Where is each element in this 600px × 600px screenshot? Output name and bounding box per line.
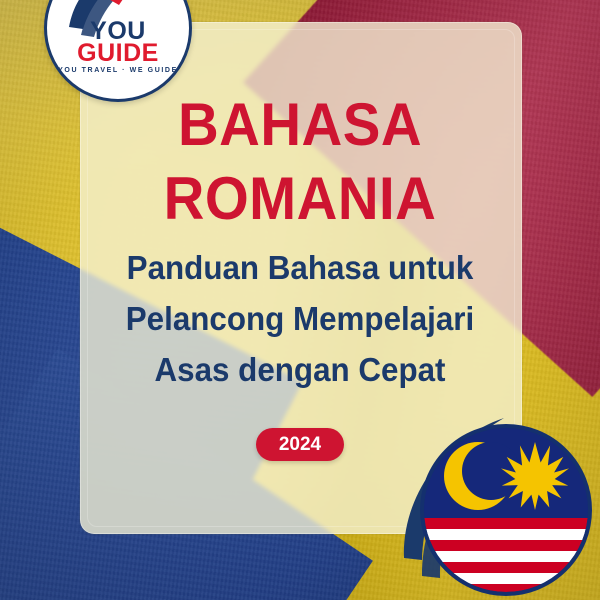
travel-guide-poster: BAHASA ROMANIA Panduan Bahasa untuk Pela… bbox=[0, 0, 600, 600]
logo-tagline: YOU TRAVEL · WE GUIDE bbox=[47, 67, 189, 74]
year-badge-label: 2024 bbox=[279, 434, 321, 456]
page-title: BAHASA ROMANIA bbox=[93, 88, 507, 236]
subtitle-line-2: Pelancong Mempelajari bbox=[91, 293, 509, 344]
youguide-logo[interactable]: YOU GUIDE YOU TRAVEL · WE GUIDE bbox=[44, 0, 192, 102]
year-badge: 2024 bbox=[256, 428, 344, 461]
malaysia-flag-emblem bbox=[396, 400, 600, 600]
logo-word-guide: GUIDE bbox=[47, 41, 189, 65]
title-line-2: ROMANIA bbox=[93, 162, 507, 236]
subtitle-line-3: Asas dengan Cepat bbox=[91, 344, 509, 395]
subtitle-line-1: Panduan Bahasa untuk bbox=[91, 242, 509, 293]
page-subtitle: Panduan Bahasa untuk Pelancong Mempelaja… bbox=[91, 242, 509, 395]
title-line-1: BAHASA bbox=[178, 91, 422, 158]
